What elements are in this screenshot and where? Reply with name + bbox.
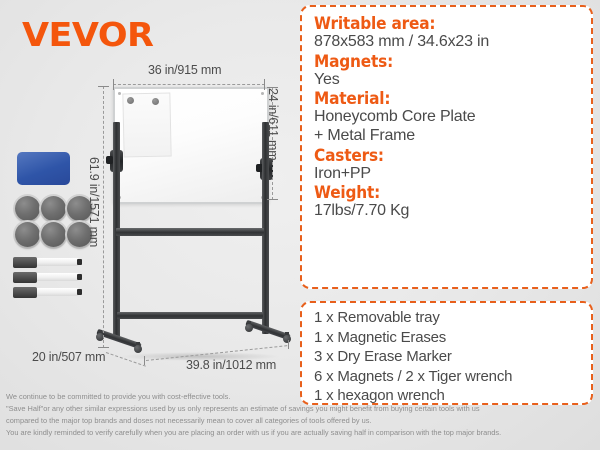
spec-label: Magnets: — [314, 52, 572, 71]
spec-value: Yes — [314, 71, 591, 90]
disclaimer-line: compared to the major top brands and dos… — [6, 415, 594, 427]
board-magnet-icon — [127, 97, 134, 104]
specifications-panel: Writable area: 878x583 mm / 34.6x23 in M… — [300, 5, 593, 289]
spec-label: Weight: — [314, 183, 572, 202]
product-infographic: VEVOR — [0, 0, 600, 450]
spec-row: Material: Honeycomb Core Plate + Metal F… — [314, 89, 591, 145]
spec-value-line: Yes — [314, 71, 591, 90]
dim-base-depth: 20 in/507 mm — [32, 350, 105, 364]
marker-cap — [13, 287, 37, 298]
dim-total-height: 61.9 in/1571 mm — [87, 157, 101, 247]
board-corner-screw — [118, 92, 121, 95]
magnetic-eraser-icon — [17, 152, 70, 185]
spec-row: Magnets: Yes — [314, 52, 591, 90]
spec-label: Material: — [314, 89, 572, 108]
package-contents-panel: 1 x Removable tray 1 x Magnetic Erases 3… — [300, 301, 593, 405]
spec-row: Writable area: 878x583 mm / 34.6x23 in — [314, 14, 591, 52]
marker-tip — [77, 289, 82, 295]
magnet-icon — [41, 196, 66, 221]
tick — [98, 347, 109, 348]
spec-value: Iron+PP — [314, 165, 591, 184]
dim-base-width: 39.8 in/1012 mm — [186, 358, 276, 372]
caster-icon — [283, 332, 291, 342]
spec-value-line: + Metal Frame — [314, 127, 591, 146]
spec-value-line: Iron+PP — [314, 165, 591, 184]
whiteboard-panel — [113, 87, 269, 204]
spec-value: 17lbs/7.70 Kg — [314, 202, 591, 221]
tick — [267, 199, 278, 200]
dry-erase-marker-icon — [13, 287, 79, 298]
caster-icon — [134, 342, 142, 352]
frame-crossbar-lower — [117, 312, 263, 319]
board-magnet-icon — [152, 98, 159, 105]
package-content-item: 1 x Removable tray — [314, 308, 591, 328]
magnet-icon — [41, 222, 66, 247]
vevor-logo: VEVOR — [22, 18, 153, 51]
dim-board-width: 36 in/915 mm — [148, 63, 221, 77]
disclaimer-line: You are kindly reminded to verify carefu… — [6, 427, 594, 439]
marker-cap — [13, 257, 37, 268]
disclaimer-line: "Save Half"or any other similar expressi… — [6, 403, 594, 415]
board-corner-screw — [261, 92, 264, 95]
marker-barrel — [33, 273, 79, 281]
spec-label: Casters: — [314, 146, 572, 165]
dry-erase-marker-icon — [13, 257, 79, 268]
disclaimer-line: We continue to be committed to provide y… — [6, 391, 594, 403]
leader-total-height — [103, 86, 104, 348]
dry-erase-marker-icon — [13, 272, 79, 283]
tick — [113, 79, 114, 90]
package-content-item: 1 x Magnetic Erases — [314, 328, 591, 348]
spec-value: 878x583 mm / 34.6x23 in — [314, 33, 591, 52]
marker-cap — [13, 272, 37, 283]
tick — [264, 79, 265, 90]
spec-row: Casters: Iron+PP — [314, 146, 591, 184]
caster-wheel — [283, 335, 291, 343]
spec-value: Honeycomb Core Plate + Metal Frame — [314, 108, 591, 145]
marker-barrel — [33, 258, 79, 266]
spec-label: Writable area: — [314, 14, 572, 33]
disclaimer-text: We continue to be committed to provide y… — [6, 391, 594, 439]
magnet-icon — [15, 222, 40, 247]
removable-tray — [116, 228, 264, 236]
tick — [98, 86, 109, 87]
marker-tip — [77, 259, 82, 265]
spec-value-line: 878x583 mm / 34.6x23 in — [314, 33, 591, 52]
tick — [288, 340, 289, 349]
package-content-item: 6 x Magnets / 2 x Tiger wrench — [314, 367, 591, 387]
magnet-icon — [15, 196, 40, 221]
caster-wheel — [245, 324, 253, 332]
dim-board-height: 24 in/611 mm — [266, 88, 280, 160]
spec-row: Weight: 17lbs/7.70 Kg — [314, 183, 591, 221]
spec-value-line: Honeycomb Core Plate — [314, 108, 591, 127]
caster-icon — [245, 321, 253, 331]
leader-board-width — [113, 84, 265, 85]
marker-barrel — [33, 288, 79, 296]
marker-tip — [77, 274, 82, 280]
tick — [144, 356, 145, 365]
spec-value-line: 17lbs/7.70 Kg — [314, 202, 591, 221]
package-content-item: 3 x Dry Erase Marker — [314, 347, 591, 367]
